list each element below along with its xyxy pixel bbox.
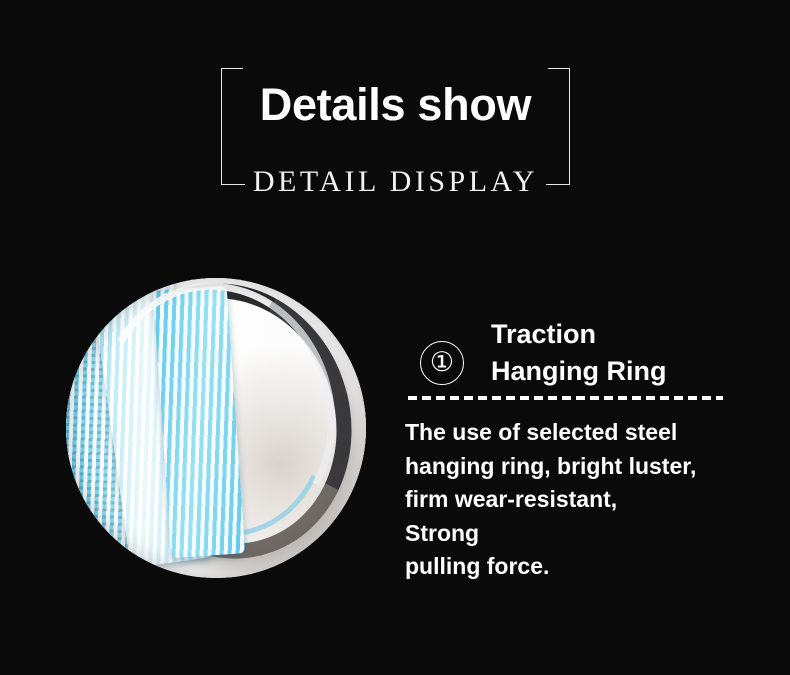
- description-line: The use of selected steel: [405, 416, 750, 450]
- description-line: hanging ring, bright luster,: [405, 450, 750, 484]
- feature-header: ① Traction Hanging Ring: [405, 316, 745, 390]
- frame-top-right: [548, 68, 570, 69]
- product-photo-scene: [66, 278, 366, 578]
- dashed-divider: [408, 396, 723, 400]
- product-photo: [66, 278, 366, 578]
- page-subtitle: DETAIL DISPLAY: [221, 167, 570, 197]
- detail-display-banner: Details show DETAIL DISPLAY ① Traction H…: [0, 0, 790, 675]
- frame-top-left: [221, 68, 243, 69]
- feature-heading: Traction Hanging Ring: [491, 316, 666, 390]
- feature-heading-line-2: Hanging Ring: [491, 356, 666, 386]
- feature-number-badge: ①: [420, 341, 464, 385]
- description-line: firm wear-resistant,: [405, 483, 750, 517]
- feature-block: ① Traction Hanging Ring The use of selec…: [405, 316, 745, 390]
- title-frame: Details show DETAIL DISPLAY: [221, 68, 570, 185]
- description-line: Strong: [405, 517, 750, 551]
- feature-heading-line-1: Traction: [491, 319, 596, 349]
- feature-description: The use of selected steel hanging ring, …: [405, 416, 750, 584]
- description-line: pulling force.: [405, 550, 750, 584]
- page-title: Details show: [221, 82, 570, 127]
